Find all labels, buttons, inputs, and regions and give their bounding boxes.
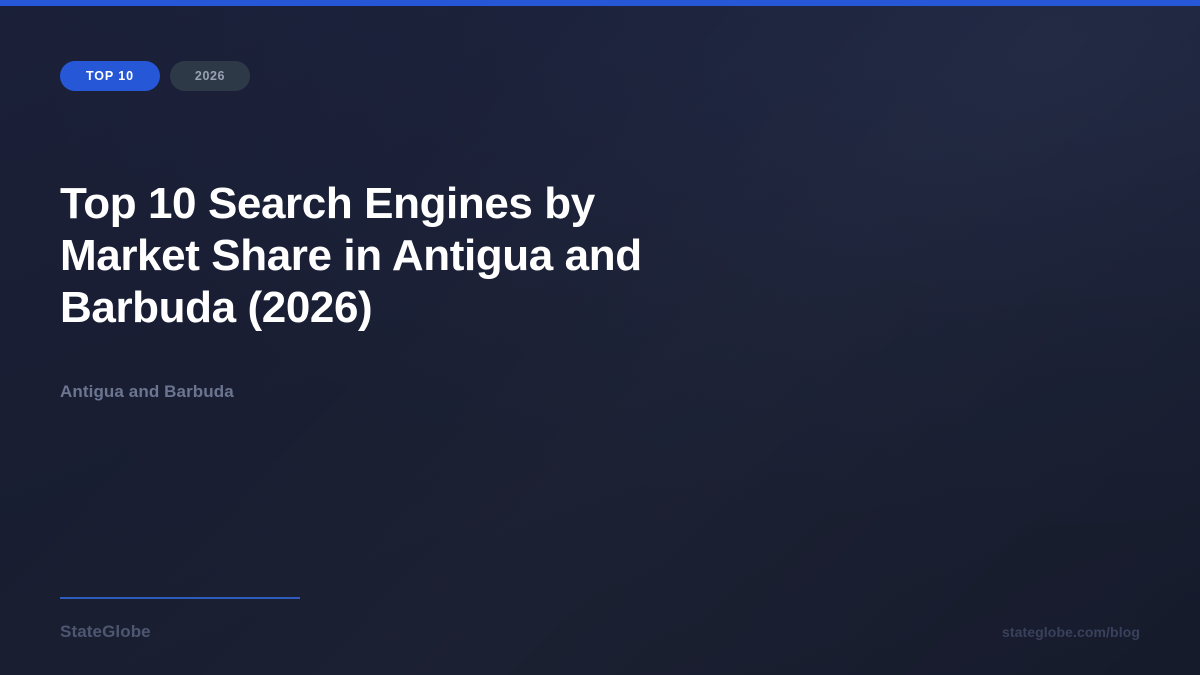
site-url: stateglobe.com/blog xyxy=(1002,624,1140,640)
page-title: Top 10 Search Engines by Market Share in… xyxy=(60,178,680,334)
badge-row: TOP 10 2026 xyxy=(60,61,250,91)
footer-divider xyxy=(60,597,300,599)
brand-name: StateGlobe xyxy=(60,622,151,642)
badge-year: 2026 xyxy=(170,61,250,91)
title-slide: TOP 10 2026 Top 10 Search Engines by Mar… xyxy=(0,0,1200,675)
badge-rank: TOP 10 xyxy=(60,61,160,91)
top-accent-bar xyxy=(0,0,1200,6)
page-subtitle: Antigua and Barbuda xyxy=(60,382,234,402)
